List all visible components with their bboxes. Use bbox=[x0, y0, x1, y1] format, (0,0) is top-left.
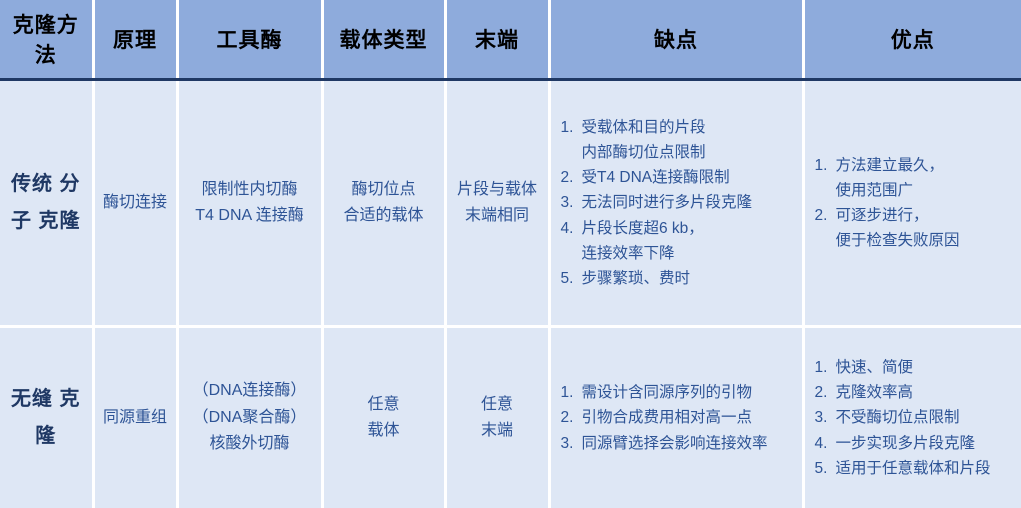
item-line: 无法同时进行多片段克隆 bbox=[582, 190, 798, 215]
table-body: 传统 分子 克隆 酶切连接 限制性内切酶 T4 DNA 连接酶 酶切位点 合适的… bbox=[0, 80, 1021, 508]
item-text: 受载体和目的片段 内部酶切位点限制 bbox=[582, 115, 798, 165]
vector-line: 载体 bbox=[330, 418, 438, 444]
item-number: 1. bbox=[561, 380, 582, 405]
item-text: 无法同时进行多片段克隆 bbox=[582, 190, 798, 215]
ends-line: 任意 bbox=[453, 392, 542, 418]
item-line: 连接效率下降 bbox=[582, 241, 798, 266]
method-line: 传统 bbox=[11, 173, 53, 195]
column-header-ends: 末端 bbox=[445, 0, 549, 80]
item-number: 3. bbox=[561, 190, 582, 215]
item-line: 使用范围广 bbox=[836, 178, 1018, 203]
vector-line: 酶切位点 bbox=[330, 177, 438, 203]
enzyme-line: （DNA聚合酶） bbox=[185, 405, 315, 431]
principle-line: 同源重组 bbox=[101, 405, 170, 431]
disadvantage-list: 1. 受载体和目的片段 内部酶切位点限制 2. 受T4 DNA连接酶限制 bbox=[561, 115, 798, 291]
item-text: 快速、简便 bbox=[836, 355, 1018, 380]
advantage-list: 1. 快速、简便 2. 克隆效率高 3. bbox=[815, 355, 1018, 481]
list-item: 1. 快速、简便 bbox=[815, 355, 1018, 380]
item-line: 受载体和目的片段 bbox=[582, 115, 798, 140]
item-number: 1. bbox=[815, 153, 836, 178]
item-line: 快速、简便 bbox=[836, 355, 1018, 380]
vector-line: 任意 bbox=[330, 392, 438, 418]
column-header-cloning-method: 克隆方法 bbox=[0, 0, 93, 80]
column-header-vector-type: 载体类型 bbox=[322, 0, 445, 80]
item-line: 一步实现多片段克隆 bbox=[836, 431, 1018, 456]
item-line: 内部酶切位点限制 bbox=[582, 140, 798, 165]
cell-method: 传统 分子 克隆 bbox=[0, 80, 93, 327]
item-line: 受T4 DNA连接酶限制 bbox=[582, 165, 798, 190]
item-number: 1. bbox=[815, 355, 836, 380]
cell-advantages: 1. 方法建立最久， 使用范围广 2. 可逐步进行， 便于检查失败原因 bbox=[803, 80, 1021, 327]
item-text: 需设计含同源序列的引物 bbox=[582, 380, 798, 405]
item-number: 5. bbox=[561, 266, 582, 291]
cell-vector-type: 任意 载体 bbox=[322, 327, 445, 508]
cell-disadvantages: 1. 受载体和目的片段 内部酶切位点限制 2. 受T4 DNA连接酶限制 bbox=[549, 80, 803, 327]
item-number: 1. bbox=[561, 115, 582, 140]
item-text: 方法建立最久， 使用范围广 bbox=[836, 153, 1018, 203]
item-number: 5. bbox=[815, 456, 836, 481]
list-item: 3. 不受酶切位点限制 bbox=[815, 405, 1018, 430]
item-text: 受T4 DNA连接酶限制 bbox=[582, 165, 798, 190]
item-line: 同源臂选择会影响连接效率 bbox=[582, 431, 798, 456]
table-row: 无缝 克隆 同源重组 （DNA连接酶） （DNA聚合酶） 核酸外切酶 任意 载体… bbox=[0, 327, 1021, 508]
cell-method: 无缝 克隆 bbox=[0, 327, 93, 508]
item-text: 片段长度超6 kb， 连接效率下降 bbox=[582, 216, 798, 266]
list-item: 1. 受载体和目的片段 内部酶切位点限制 bbox=[561, 115, 798, 165]
item-text: 克隆效率高 bbox=[836, 380, 1018, 405]
cell-principle: 同源重组 bbox=[93, 327, 177, 508]
list-item: 4. 一步实现多片段克隆 bbox=[815, 431, 1018, 456]
list-item: 1. 需设计含同源序列的引物 bbox=[561, 380, 798, 405]
advantage-list: 1. 方法建立最久， 使用范围广 2. 可逐步进行， 便于检查失败原因 bbox=[815, 153, 1018, 253]
column-header-tool-enzyme: 工具酶 bbox=[177, 0, 322, 80]
principle-line: 酶切连接 bbox=[101, 190, 170, 216]
cell-advantages: 1. 快速、简便 2. 克隆效率高 3. bbox=[803, 327, 1021, 508]
item-text: 适用于任意载体和片段 bbox=[836, 456, 1018, 481]
vector-line: 合适的载体 bbox=[330, 203, 438, 229]
cell-vector-type: 酶切位点 合适的载体 bbox=[322, 80, 445, 327]
item-line: 方法建立最久， bbox=[836, 153, 1018, 178]
item-number: 4. bbox=[561, 216, 582, 241]
column-header-disadvantages: 缺点 bbox=[549, 0, 803, 80]
item-text: 同源臂选择会影响连接效率 bbox=[582, 431, 798, 456]
ends-line: 末端 bbox=[453, 418, 542, 444]
list-item: 3. 无法同时进行多片段克隆 bbox=[561, 190, 798, 215]
header-row: 克隆方法 原理 工具酶 载体类型 末端 缺点 优点 bbox=[0, 0, 1021, 80]
item-text: 一步实现多片段克隆 bbox=[836, 431, 1018, 456]
cloning-methods-comparison-table: 克隆方法 原理 工具酶 载体类型 末端 缺点 优点 传统 分子 克隆 酶切连接 bbox=[0, 0, 1021, 508]
table-header: 克隆方法 原理 工具酶 载体类型 末端 缺点 优点 bbox=[0, 0, 1021, 80]
item-line: 便于检查失败原因 bbox=[836, 228, 1018, 253]
enzyme-line: （DNA连接酶） bbox=[185, 378, 315, 404]
disadvantage-list: 1. 需设计含同源序列的引物 2. 引物合成费用相对高一点 bbox=[561, 380, 798, 455]
item-line: 需设计含同源序列的引物 bbox=[582, 380, 798, 405]
item-line: 可逐步进行， bbox=[836, 203, 1018, 228]
cell-tool-enzyme: （DNA连接酶） （DNA聚合酶） 核酸外切酶 bbox=[177, 327, 322, 508]
list-item: 5. 适用于任意载体和片段 bbox=[815, 456, 1018, 481]
item-text: 不受酶切位点限制 bbox=[836, 405, 1018, 430]
list-item: 2. 克隆效率高 bbox=[815, 380, 1018, 405]
column-header-advantages: 优点 bbox=[803, 0, 1021, 80]
cell-principle: 酶切连接 bbox=[93, 80, 177, 327]
list-item: 1. 方法建立最久， 使用范围广 bbox=[815, 153, 1018, 203]
item-line: 引物合成费用相对高一点 bbox=[582, 405, 798, 430]
item-line: 步骤繁琐、费时 bbox=[582, 266, 798, 291]
list-item: 2. 引物合成费用相对高一点 bbox=[561, 405, 798, 430]
ends-line: 末端相同 bbox=[453, 203, 542, 229]
list-item: 2. 可逐步进行， 便于检查失败原因 bbox=[815, 203, 1018, 253]
list-item: 5. 步骤繁琐、费时 bbox=[561, 266, 798, 291]
enzyme-line: 限制性内切酶 bbox=[185, 177, 315, 203]
enzyme-line: T4 DNA 连接酶 bbox=[185, 203, 315, 229]
list-item: 2. 受T4 DNA连接酶限制 bbox=[561, 165, 798, 190]
cell-tool-enzyme: 限制性内切酶 T4 DNA 连接酶 bbox=[177, 80, 322, 327]
item-line: 克隆效率高 bbox=[836, 380, 1018, 405]
item-number: 2. bbox=[815, 380, 836, 405]
cell-ends: 片段与载体 末端相同 bbox=[445, 80, 549, 327]
table-row: 传统 分子 克隆 酶切连接 限制性内切酶 T4 DNA 连接酶 酶切位点 合适的… bbox=[0, 80, 1021, 327]
item-number: 2. bbox=[561, 165, 582, 190]
list-item: 4. 片段长度超6 kb， 连接效率下降 bbox=[561, 216, 798, 266]
list-item: 3. 同源臂选择会影响连接效率 bbox=[561, 431, 798, 456]
item-number: 2. bbox=[561, 405, 582, 430]
item-number: 2. bbox=[815, 203, 836, 228]
ends-line: 片段与载体 bbox=[453, 177, 542, 203]
method-line: 无缝 bbox=[11, 388, 53, 410]
column-header-principle: 原理 bbox=[93, 0, 177, 80]
item-line: 不受酶切位点限制 bbox=[836, 405, 1018, 430]
cell-disadvantages: 1. 需设计含同源序列的引物 2. 引物合成费用相对高一点 bbox=[549, 327, 803, 508]
item-number: 3. bbox=[815, 405, 836, 430]
item-line: 片段长度超6 kb， bbox=[582, 216, 798, 241]
cell-ends: 任意 末端 bbox=[445, 327, 549, 508]
item-text: 引物合成费用相对高一点 bbox=[582, 405, 798, 430]
item-text: 步骤繁琐、费时 bbox=[582, 266, 798, 291]
item-number: 3. bbox=[561, 431, 582, 456]
item-line: 适用于任意载体和片段 bbox=[836, 456, 1018, 481]
item-number: 4. bbox=[815, 431, 836, 456]
method-line: 克隆 bbox=[39, 210, 81, 232]
item-text: 可逐步进行， 便于检查失败原因 bbox=[836, 203, 1018, 253]
enzyme-line: 核酸外切酶 bbox=[185, 431, 315, 457]
comparison-table-container: 克隆方法 原理 工具酶 载体类型 末端 缺点 优点 传统 分子 克隆 酶切连接 bbox=[0, 0, 1021, 508]
